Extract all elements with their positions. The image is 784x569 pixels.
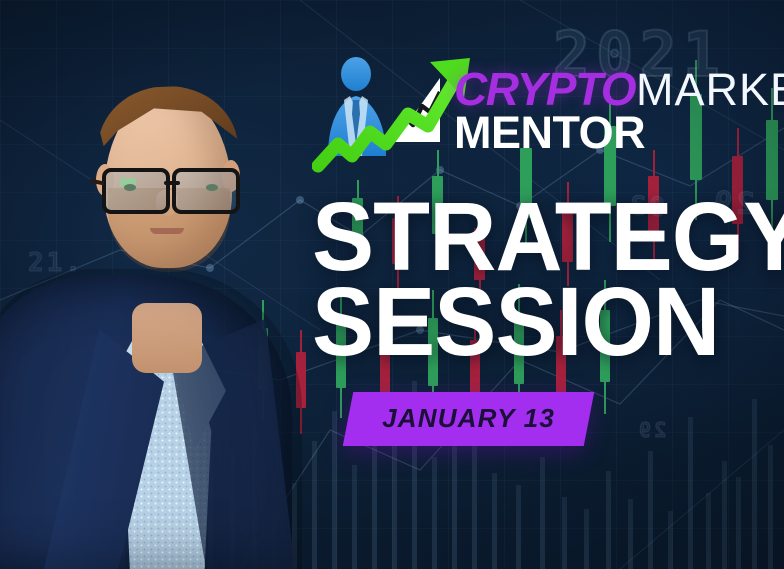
lens-right [172,168,240,214]
jacket-shading [0,269,302,569]
date-badge-shape: JANUARY 13 [343,392,594,446]
eye-left [124,184,136,191]
eyeglasses-icon [96,168,244,208]
logo-crypto-text: CRYPTO [454,68,635,110]
headline-line-1: STRATEGY [312,196,754,277]
headline-line-2: SESSION [312,281,754,362]
brand-logo: CRYPTO MARKET MENTOR [312,48,778,174]
logo-market-text: MARKET [636,69,784,110]
lens-left [102,168,170,214]
glasses-bridge [164,181,180,185]
promo-graphic-canvas: 2021 21. 29 93 29 [0,0,784,569]
logo-wordmark: CRYPTO MARKET MENTOR [454,68,784,155]
date-badge: JANUARY 13 [348,392,589,446]
presenter-photo [0,0,292,569]
date-badge-label: JANUARY 13 [382,403,555,434]
mouth [150,228,184,234]
page-title: STRATEGY SESSION [312,196,772,363]
logo-mentor-text: MENTOR [454,112,784,155]
eye-right [206,184,218,191]
